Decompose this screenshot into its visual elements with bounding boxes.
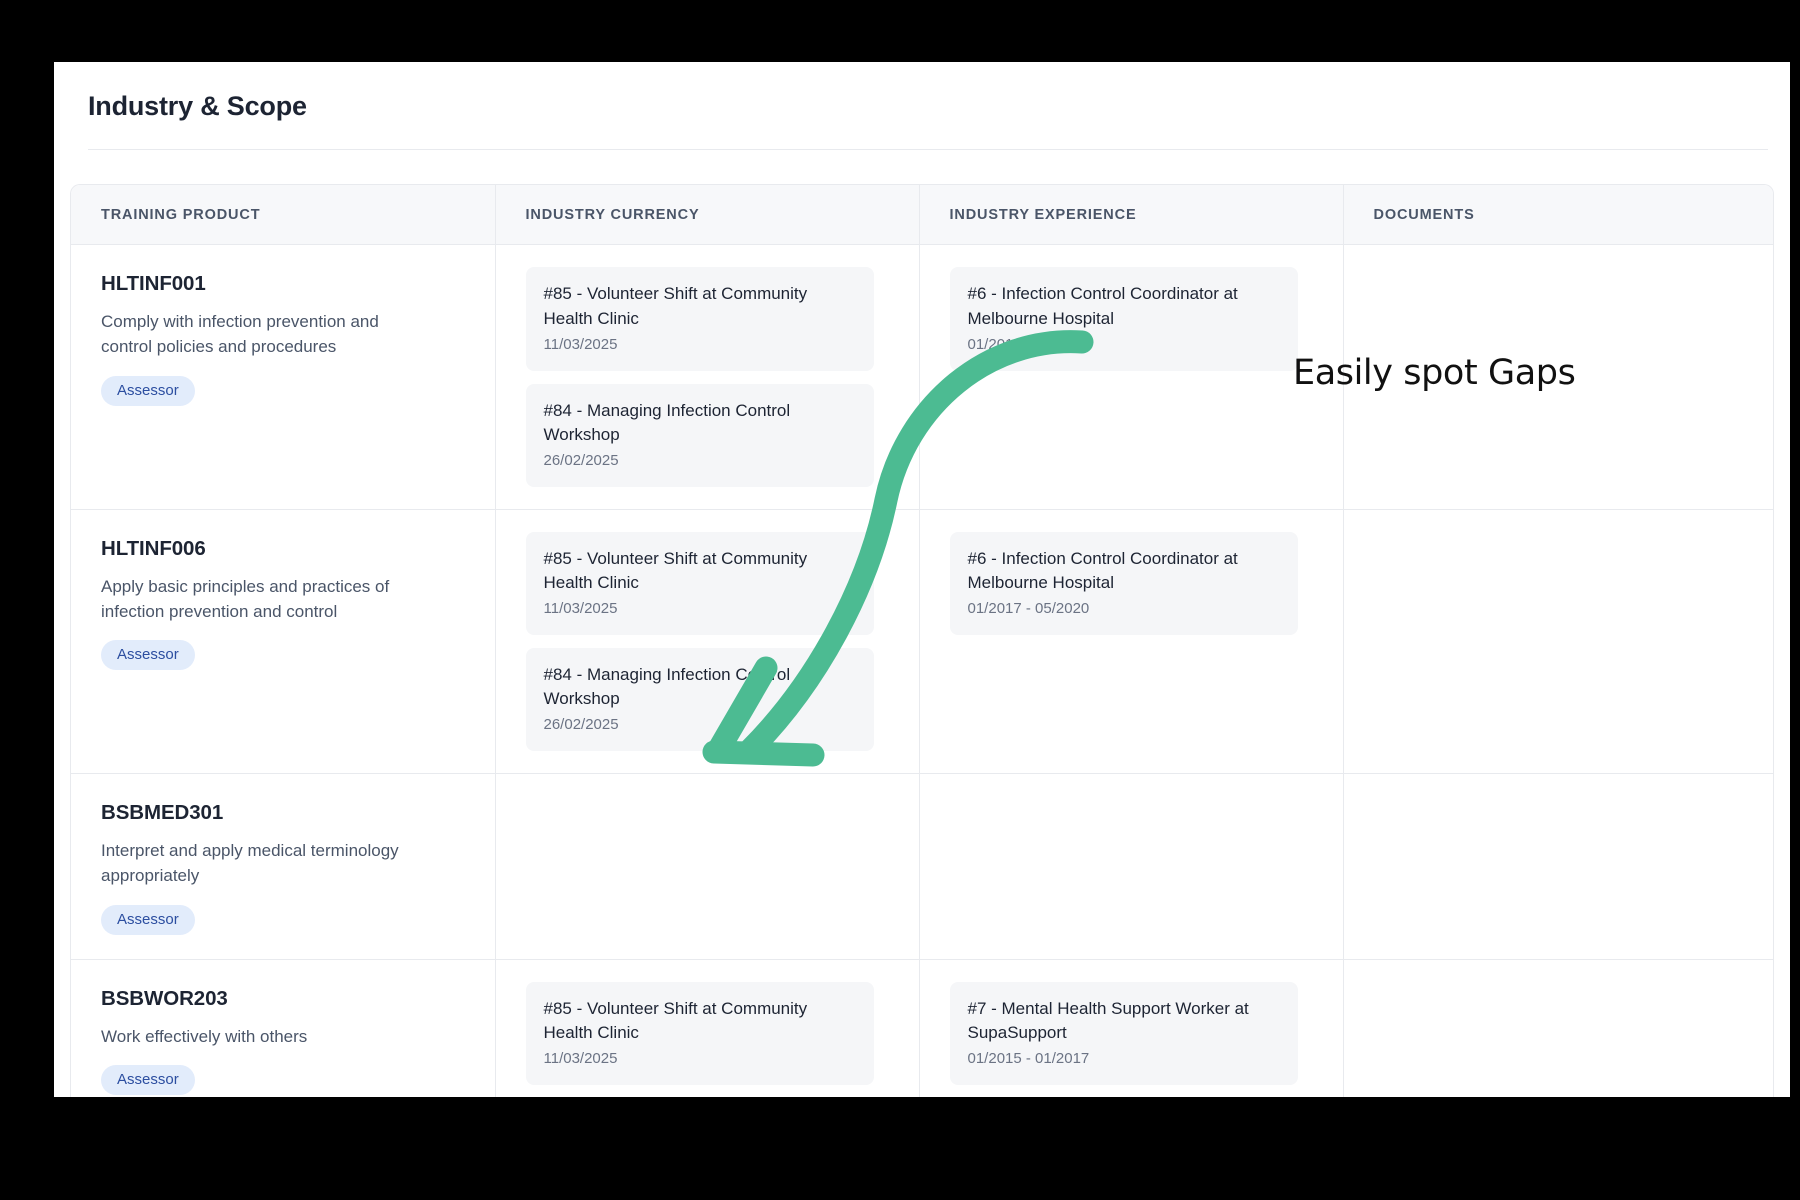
event-card-title: #85 - Volunteer Shift at Community Healt… [544, 997, 856, 1045]
training-product-code: HLTINF006 [101, 537, 471, 561]
empty-cell [1374, 532, 1746, 642]
cell-industry-currency: #85 - Volunteer Shift at Community Healt… [495, 509, 919, 774]
event-card-title: #84 - Managing Infection Control Worksho… [544, 399, 856, 447]
event-card[interactable]: #85 - Volunteer Shift at Community Healt… [526, 982, 874, 1085]
cell-training-product: HLTINF001Comply with infection preventio… [71, 245, 495, 510]
table-row: HLTINF006Apply basic principles and prac… [71, 509, 1774, 774]
column-header-industry-experience: INDUSTRY EXPERIENCE [919, 185, 1343, 245]
training-product-description: Interpret and apply medical terminology … [101, 839, 431, 888]
event-card-title: #6 - Infection Control Coordinator at Me… [968, 547, 1280, 595]
empty-cell [1374, 982, 1746, 1092]
cell-industry-experience: #6 - Infection Control Coordinator at Me… [919, 245, 1343, 510]
empty-cell [950, 796, 1313, 906]
event-card[interactable]: #84 - Managing Infection Control Worksho… [526, 384, 874, 487]
role-badge: Assessor [101, 1065, 195, 1095]
cell-industry-currency: #85 - Volunteer Shift at Community Healt… [495, 245, 919, 510]
cell-documents [1343, 959, 1774, 1097]
table-header-row: TRAINING PRODUCT INDUSTRY CURRENCY INDUS… [71, 185, 1774, 245]
cell-documents [1343, 774, 1774, 959]
training-product-description: Work effectively with others [101, 1025, 431, 1050]
cell-industry-currency: #85 - Volunteer Shift at Community Healt… [495, 959, 919, 1097]
cell-industry-experience: #6 - Infection Control Coordinator at Me… [919, 509, 1343, 774]
event-card[interactable]: #6 - Infection Control Coordinator at Me… [950, 267, 1298, 370]
event-card-date: 01/2017 - 05/2020 [968, 598, 1280, 619]
panel-header: Industry & Scope [72, 62, 1772, 150]
event-card[interactable]: #6 - Infection Control Coordinator at Me… [950, 532, 1298, 635]
industry-scope-table: TRAINING PRODUCT INDUSTRY CURRENCY INDUS… [71, 185, 1774, 1097]
cell-industry-experience [919, 774, 1343, 959]
screenshot-stage: Industry & Scope TRAINING PRODUCT INDUST… [0, 0, 1800, 1200]
event-card-title: #6 - Infection Control Coordinator at Me… [968, 282, 1280, 330]
event-card[interactable]: #7 - Mental Health Support Worker at Sup… [950, 982, 1298, 1085]
event-card-title: #85 - Volunteer Shift at Community Healt… [544, 282, 856, 330]
table-row: BSBMED301Interpret and apply medical ter… [71, 774, 1774, 959]
role-badge: Assessor [101, 640, 195, 670]
event-card-date: 01/2015 - 01/2017 [968, 1048, 1280, 1069]
empty-cell [1374, 796, 1746, 906]
training-product-description: Comply with infection prevention and con… [101, 310, 431, 359]
role-badge: Assessor [101, 376, 195, 406]
industry-scope-panel: Industry & Scope TRAINING PRODUCT INDUST… [54, 62, 1790, 1097]
table-row: BSBWOR203Work effectively with othersAss… [71, 959, 1774, 1097]
event-card-title: #84 - Managing Infection Control Worksho… [544, 663, 856, 711]
column-header-industry-currency: INDUSTRY CURRENCY [495, 185, 919, 245]
event-card-title: #7 - Mental Health Support Worker at Sup… [968, 997, 1280, 1045]
event-card-date: 11/03/2025 [544, 1048, 856, 1069]
event-card[interactable]: #85 - Volunteer Shift at Community Healt… [526, 267, 874, 370]
event-card[interactable]: #84 - Managing Infection Control Worksho… [526, 648, 874, 751]
event-card-date: 01/2017 - 05/2020 [968, 334, 1280, 355]
cell-industry-currency [495, 774, 919, 959]
training-product-code: BSBMED301 [101, 801, 471, 825]
industry-scope-table-wrapper: TRAINING PRODUCT INDUSTRY CURRENCY INDUS… [70, 184, 1774, 1097]
table-head: TRAINING PRODUCT INDUSTRY CURRENCY INDUS… [71, 185, 1774, 245]
cell-training-product: HLTINF006Apply basic principles and prac… [71, 509, 495, 774]
annotation-label: Easily spot Gaps [1293, 353, 1575, 393]
cell-training-product: BSBMED301Interpret and apply medical ter… [71, 774, 495, 959]
training-product-description: Apply basic principles and practices of … [101, 575, 431, 624]
event-card-date: 26/02/2025 [544, 450, 856, 471]
role-badge: Assessor [101, 905, 195, 935]
event-card[interactable]: #85 - Volunteer Shift at Community Healt… [526, 532, 874, 635]
event-card-date: 11/03/2025 [544, 334, 856, 355]
cell-training-product: BSBWOR203Work effectively with othersAss… [71, 959, 495, 1097]
page-title: Industry & Scope [88, 90, 1772, 122]
event-card-title: #85 - Volunteer Shift at Community Healt… [544, 547, 856, 595]
event-card-date: 11/03/2025 [544, 598, 856, 619]
training-product-code: BSBWOR203 [101, 987, 471, 1011]
training-product-code: HLTINF001 [101, 272, 471, 296]
cell-documents [1343, 509, 1774, 774]
event-card-date: 26/02/2025 [544, 714, 856, 735]
column-header-documents: DOCUMENTS [1343, 185, 1774, 245]
header-divider [88, 149, 1768, 150]
column-header-training-product: TRAINING PRODUCT [71, 185, 495, 245]
empty-cell [526, 796, 889, 906]
cell-industry-experience: #7 - Mental Health Support Worker at Sup… [919, 959, 1343, 1097]
